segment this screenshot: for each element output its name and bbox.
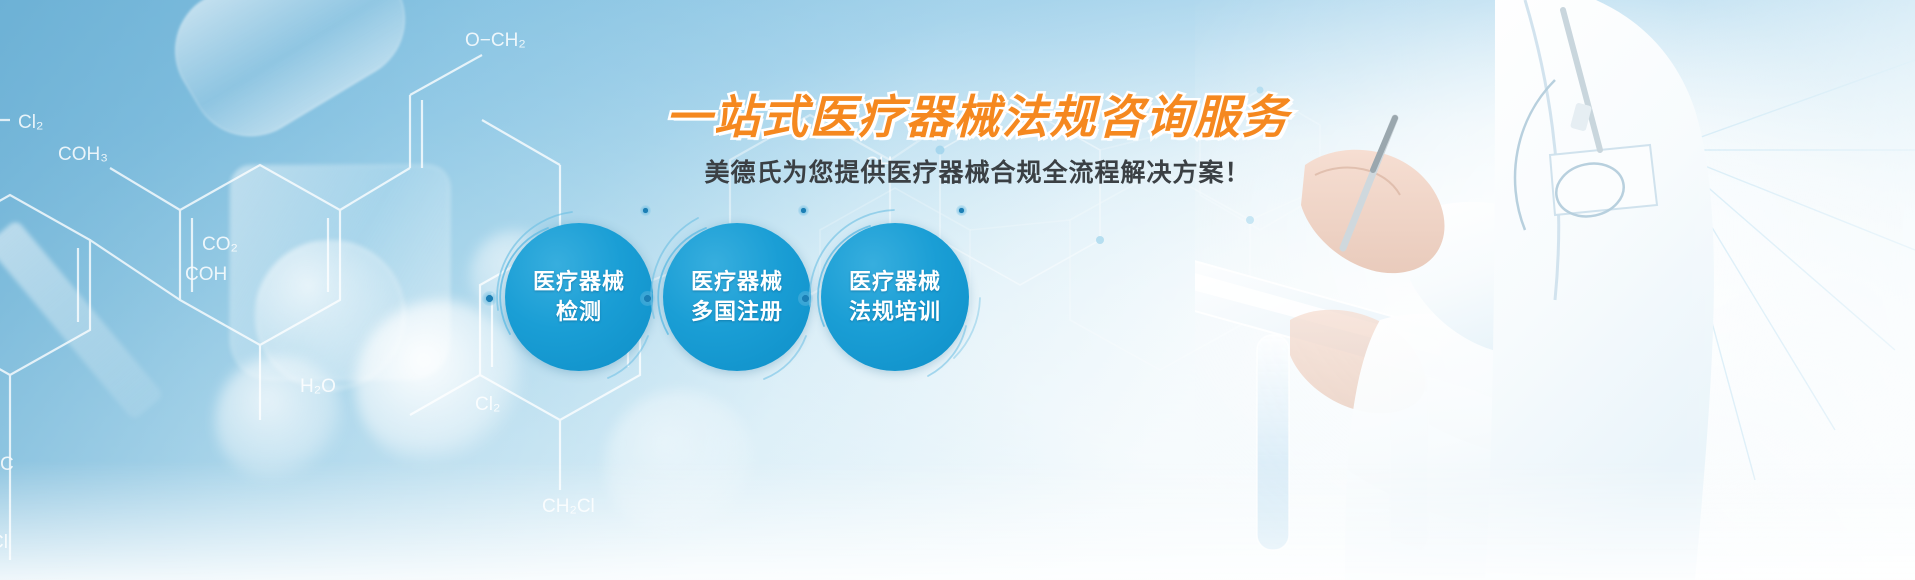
bokeh-light-1: [355, 300, 525, 470]
service-circle-training[interactable]: 医疗器械 法规培训: [821, 223, 969, 371]
orbit-node-icon: [482, 291, 497, 306]
glass-lid-decoration: [255, 240, 405, 390]
svg-text:CO₂: CO₂: [202, 234, 238, 255]
service-circle-label-line1: 医疗器械: [691, 267, 783, 297]
page-subtitle: 美德氏为您提供医疗器械合规全流程解决方案！: [40, 158, 1915, 188]
svg-text:O−CH₂: O−CH₂: [465, 30, 526, 51]
svg-text:CH₂Cl: CH₂Cl: [542, 496, 595, 517]
service-circle-label-line1: 医疗器械: [533, 267, 625, 297]
orbit-node-small-icon: [956, 205, 967, 216]
glass-blade-decoration: [0, 219, 164, 421]
orbit-node-small-icon: [640, 205, 651, 216]
service-circle-label-line1: 医疗器械: [849, 267, 941, 297]
svg-text:Cl₂: Cl₂: [18, 112, 43, 133]
svg-text:COH: COH: [185, 264, 227, 285]
svg-text:Cl₂: Cl₂: [475, 394, 500, 415]
bokeh-light-2: [215, 355, 345, 485]
service-circle-testing[interactable]: 医疗器械 检测: [505, 223, 653, 371]
svg-text:CH₃: CH₃: [865, 154, 900, 175]
promo-banner: Cl₂ COH₃ O−CH₂ COH H₂O Cl C Cl Cl₂ CH₂Cl…: [0, 0, 1915, 580]
service-circle-label-line2: 检测: [556, 297, 602, 327]
service-circle-label-line2: 法规培训: [849, 297, 941, 327]
service-circle-group: 医疗器械 检测 医疗器械 多国注册: [505, 222, 1085, 372]
glass-jar-decoration: [230, 165, 450, 380]
glass-tube-decoration: [153, 0, 427, 159]
service-circle-registration[interactable]: 医疗器械 多国注册: [663, 223, 811, 371]
page-title: 一站式医疗器械法规咨询服务: [666, 92, 1290, 142]
svg-text:H₂O: H₂O: [300, 376, 336, 397]
scientist-photo: [1195, 0, 1915, 580]
svg-text:C: C: [0, 454, 14, 475]
svg-text:Cl: Cl: [0, 532, 8, 553]
bokeh-light-4: [605, 390, 755, 540]
headline-block: 一站式医疗器械法规咨询服务 美德氏为您提供医疗器械合规全流程解决方案！: [0, 92, 1915, 188]
service-circle-label-line2: 多国注册: [691, 297, 783, 327]
svg-text:COH₃: COH₃: [58, 144, 108, 165]
bottom-fade-overlay: [0, 460, 1915, 580]
orbit-node-small-icon: [798, 205, 809, 216]
